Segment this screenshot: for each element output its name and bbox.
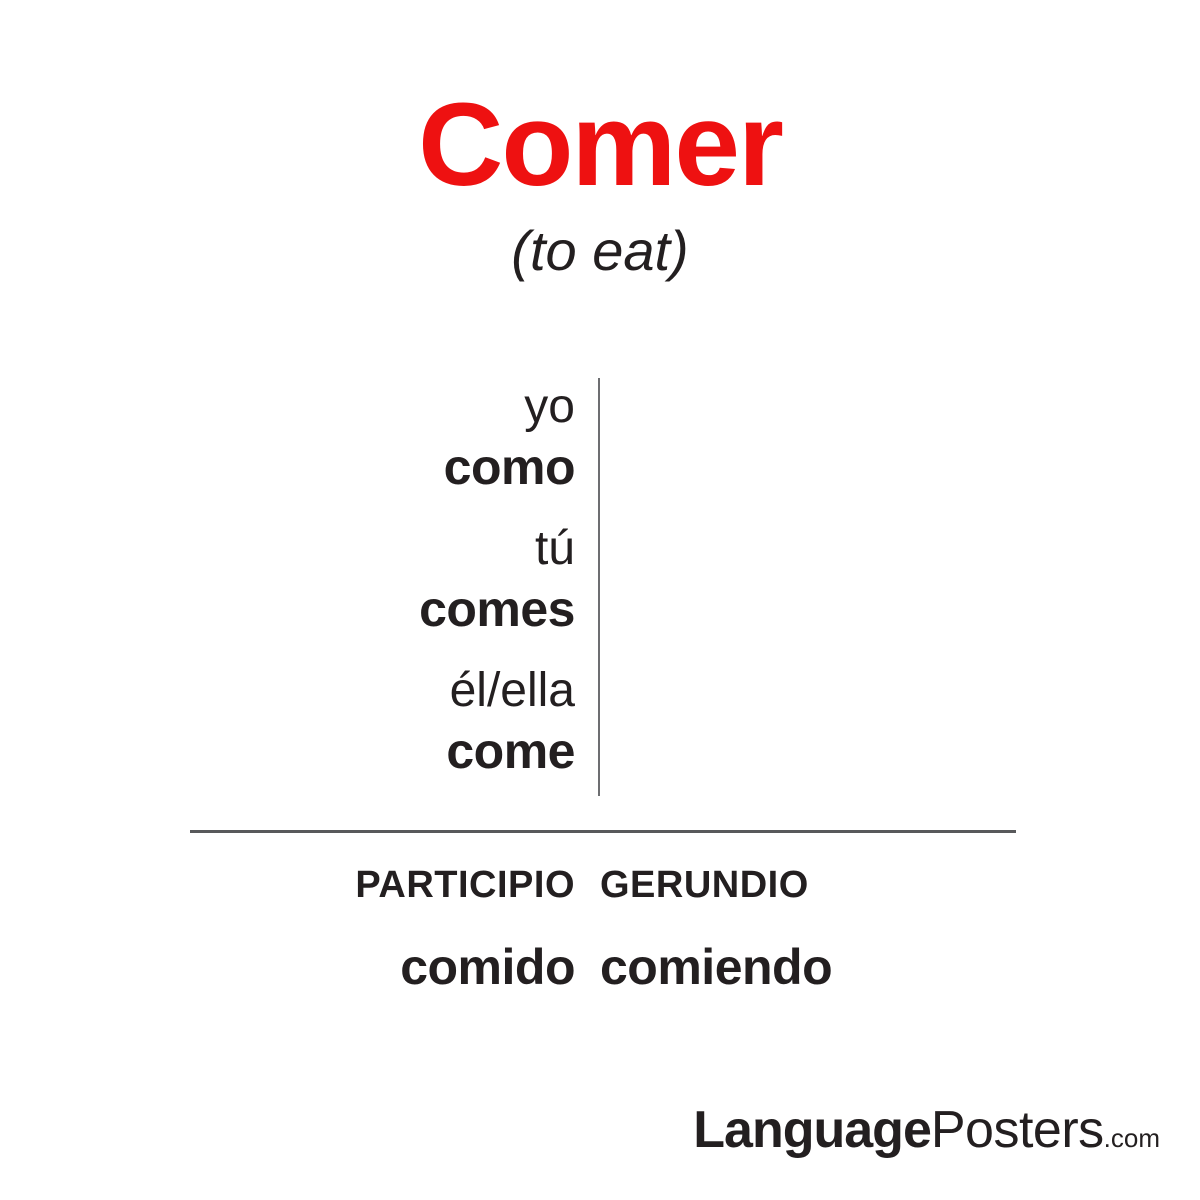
title-block: Comer (to eat)	[0, 86, 1200, 283]
table-row: tú comes vosotros coméis	[0, 520, 1200, 653]
verb-form: coméis	[575, 578, 1200, 640]
plural-cell: nosotros comemos	[0, 378, 575, 511]
verb-form: comen	[575, 720, 1200, 782]
gerundio-column: GERUNDIO comiendo	[575, 862, 1200, 998]
verb-translation: (to eat)	[0, 218, 1200, 283]
gerundio-label: GERUNDIO	[600, 862, 1200, 908]
plural-cell: vosotros coméis	[0, 520, 575, 653]
pronoun-label: ellos/ellas	[575, 662, 1200, 720]
table-row: yo como nosotros comemos	[0, 378, 1200, 511]
verb-conjugation-poster: Comer (to eat) yo como nosotros comemos …	[0, 0, 1200, 1200]
site-logo: LanguagePosters.com	[693, 1104, 1160, 1156]
logo-language-text: Language	[693, 1101, 931, 1159]
logo-posters-text: Posters	[931, 1101, 1104, 1159]
participio-value: comido	[0, 936, 575, 998]
participio-label: PARTICIPIO	[0, 862, 575, 908]
verb-form: comemos	[575, 436, 1200, 498]
pronoun-label: vosotros	[575, 520, 1200, 578]
nonfinite-forms-block: PARTICIPIO comido GERUNDIO comiendo	[0, 862, 1200, 998]
conjugation-table: yo como nosotros comemos tú comes vosotr…	[0, 378, 1200, 798]
table-row: él/ella come ellos/ellas comen	[0, 662, 1200, 795]
plural-cell: ellos/ellas comen	[0, 662, 575, 795]
verb-title: Comer	[0, 86, 1200, 204]
pronoun-label: nosotros	[575, 378, 1200, 436]
conjugation-rows: yo como nosotros comemos tú comes vosotr…	[0, 378, 1200, 795]
gerundio-value: comiendo	[600, 936, 1200, 998]
logo-tld-text: .com	[1104, 1123, 1160, 1153]
participio-column: PARTICIPIO comido	[0, 862, 575, 998]
section-divider	[190, 830, 1016, 833]
